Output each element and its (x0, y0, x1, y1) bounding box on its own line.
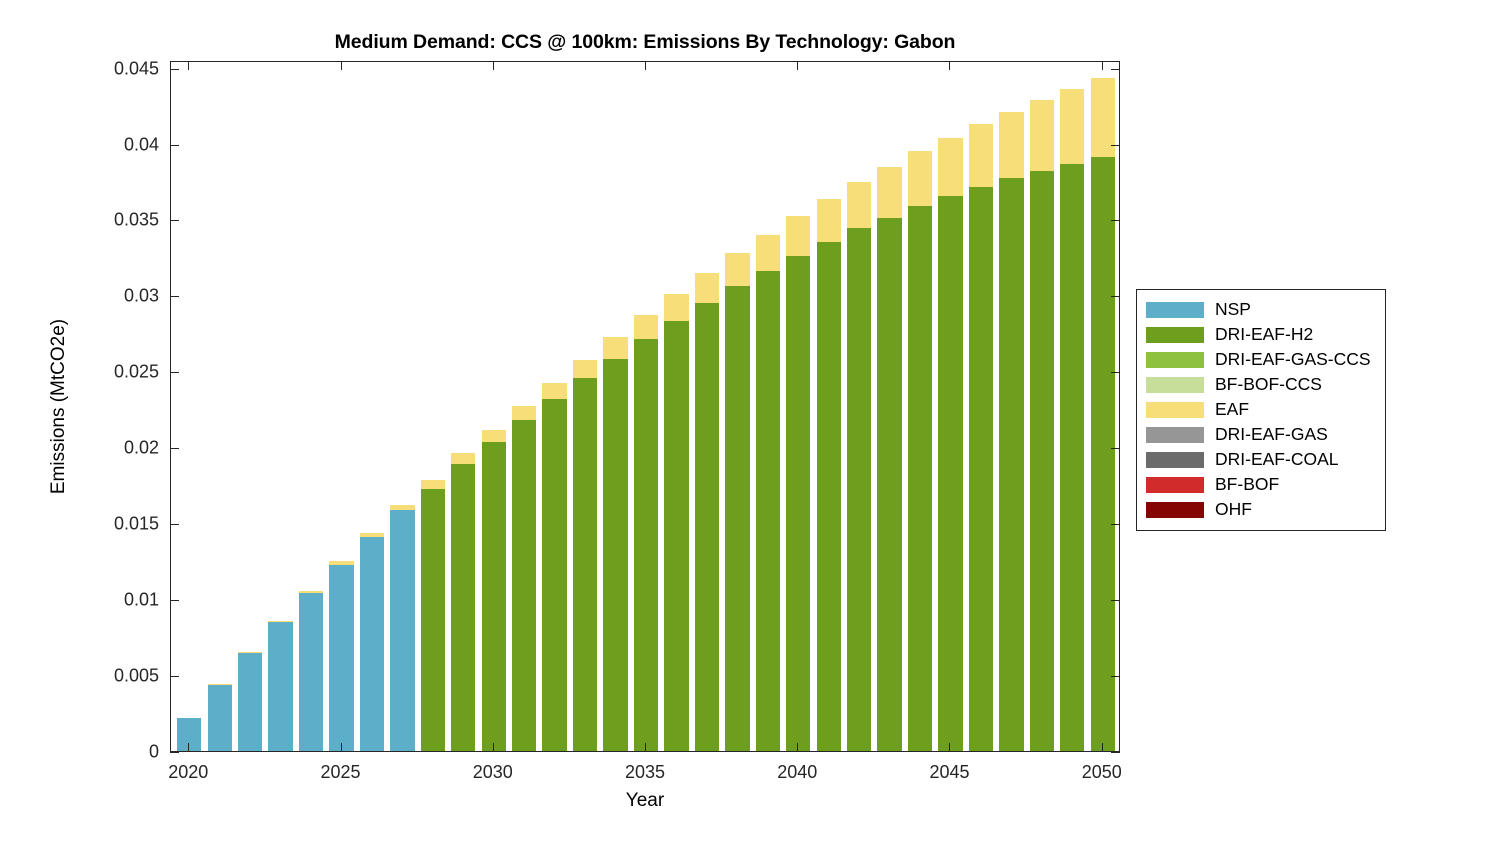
legend-label: DRI-EAF-GAS (1215, 424, 1328, 445)
bar-stack[interactable] (482, 430, 506, 751)
bar-stack[interactable] (664, 294, 688, 751)
y-axis-tick-right (1111, 220, 1120, 221)
legend-item-bf-bof[interactable]: BF-BOF (1146, 472, 1376, 497)
bar-segment-dri-eaf-h2[interactable] (1091, 157, 1115, 751)
legend-swatch-icon (1146, 452, 1204, 468)
legend-swatch-icon (1146, 302, 1204, 318)
bar-segment-dri-eaf-h2[interactable] (1060, 164, 1084, 751)
bar-stack[interactable] (817, 199, 841, 751)
bar-segment-dri-eaf-h2[interactable] (877, 218, 901, 751)
chart-legend: NSPDRI-EAF-H2DRI-EAF-GAS-CCSBF-BOF-CCSEA… (1136, 289, 1386, 531)
legend-swatch-icon (1146, 352, 1204, 368)
legend-label: BF-BOF (1215, 474, 1279, 495)
bar-stack[interactable] (360, 533, 384, 751)
legend-item-ohf[interactable]: OHF (1146, 497, 1376, 522)
bar-segment-eaf[interactable] (908, 151, 932, 206)
y-axis-tick (170, 145, 179, 146)
x-axis-tick (341, 743, 342, 752)
legend-swatch-icon (1146, 377, 1204, 393)
bar-segment-dri-eaf-h2[interactable] (482, 442, 506, 751)
x-axis-tick-label: 2050 (1082, 762, 1122, 783)
x-axis-label: Year (170, 790, 1120, 812)
x-axis-tick-label: 2030 (473, 762, 513, 783)
bar-stack[interactable] (1091, 78, 1115, 751)
legend-item-dri-eaf-h2[interactable]: DRI-EAF-H2 (1146, 322, 1376, 347)
bar-segment-nsp[interactable] (208, 685, 232, 751)
y-axis-tick-right (1111, 600, 1120, 601)
x-axis-tick-label: 2020 (168, 762, 208, 783)
y-axis-tick-label: 0.04 (124, 134, 159, 155)
bar-segment-nsp[interactable] (299, 593, 323, 751)
y-axis-tick-right (1111, 676, 1120, 677)
bar-segment-dri-eaf-h2[interactable] (512, 420, 536, 751)
bar-stack[interactable] (268, 621, 292, 751)
bar-segment-dri-eaf-h2[interactable] (451, 464, 475, 751)
bar-segment-nsp[interactable] (390, 510, 414, 751)
y-axis-tick-right (1111, 448, 1120, 449)
bar-segment-eaf[interactable] (756, 235, 780, 271)
bar-stack[interactable] (969, 124, 993, 751)
bar-segment-dri-eaf-h2[interactable] (1030, 171, 1054, 751)
y-axis-tick (170, 448, 179, 449)
bar-segment-eaf[interactable] (664, 294, 688, 321)
bar-stack[interactable] (512, 406, 536, 751)
y-axis-tick-label: 0.045 (114, 58, 159, 79)
bar-segment-eaf[interactable] (542, 383, 566, 400)
x-axis-tick (949, 743, 950, 752)
bar-segment-nsp[interactable] (329, 565, 353, 751)
y-axis-tick-label: 0.03 (124, 286, 159, 307)
x-axis-tick (493, 743, 494, 752)
bar-stack[interactable] (1060, 89, 1084, 751)
bar-segment-dri-eaf-h2[interactable] (634, 339, 658, 751)
legend-item-bf-bof-ccs[interactable]: BF-BOF-CCS (1146, 372, 1376, 397)
bar-segment-eaf[interactable] (725, 253, 749, 286)
bar-stack[interactable] (542, 383, 566, 751)
x-axis-tick-label: 2035 (625, 762, 665, 783)
legend-swatch-icon (1146, 402, 1204, 418)
legend-item-dri-eaf-gas[interactable]: DRI-EAF-GAS (1146, 422, 1376, 447)
y-axis-tick-label: 0.015 (114, 514, 159, 535)
legend-label: DRI-EAF-GAS-CCS (1215, 349, 1371, 370)
bar-stack[interactable] (847, 182, 871, 752)
x-axis-tick (797, 743, 798, 752)
legend-item-dri-eaf-coal[interactable]: DRI-EAF-COAL (1146, 447, 1376, 472)
bar-segment-dri-eaf-h2[interactable] (603, 359, 627, 751)
chart-figure: Medium Demand: CCS @ 100km: Emissions By… (0, 0, 1500, 844)
bar-segment-eaf[interactable] (512, 406, 536, 420)
bar-segment-nsp[interactable] (360, 537, 384, 751)
y-axis-tick-label: 0.02 (124, 438, 159, 459)
legend-label: NSP (1215, 299, 1251, 320)
bar-segment-eaf[interactable] (695, 273, 719, 303)
bar-stack[interactable] (756, 235, 780, 751)
y-axis-tick-label: 0 (149, 742, 159, 763)
y-axis-label: Emissions (MtCO2e) (48, 61, 70, 752)
y-axis-tick (170, 600, 179, 601)
bar-segment-eaf[interactable] (421, 480, 445, 489)
x-axis-tick-top (188, 61, 189, 70)
plot-area (171, 62, 1119, 751)
bar-segment-dri-eaf-h2[interactable] (817, 242, 841, 751)
bar-stack[interactable] (908, 151, 932, 751)
x-axis-tick (645, 743, 646, 752)
bar-stack[interactable] (208, 684, 232, 751)
x-axis-tick-top (493, 61, 494, 70)
x-axis-tick-top (949, 61, 950, 70)
bar-segment-eaf[interactable] (451, 453, 475, 463)
bar-segment-dri-eaf-h2[interactable] (999, 178, 1023, 751)
legend-label: DRI-EAF-COAL (1215, 449, 1338, 470)
bar-segment-dri-eaf-h2[interactable] (695, 303, 719, 751)
legend-item-eaf[interactable]: EAF (1146, 397, 1376, 422)
y-axis-tick-right (1111, 69, 1120, 70)
legend-label: OHF (1215, 499, 1252, 520)
x-axis-tick (188, 743, 189, 752)
bar-segment-eaf[interactable] (817, 199, 841, 242)
y-axis-tick (170, 676, 179, 677)
y-axis-tick (170, 69, 179, 70)
y-axis-tick (170, 752, 179, 753)
bar-stack[interactable] (938, 138, 962, 751)
bar-segment-dri-eaf-h2[interactable] (969, 187, 993, 751)
bar-stack[interactable] (695, 273, 719, 751)
x-axis-tick-label: 2045 (929, 762, 969, 783)
bar-stack[interactable] (390, 505, 414, 751)
bar-segment-eaf[interactable] (634, 315, 658, 339)
x-axis-tick-label: 2025 (320, 762, 360, 783)
bar-stack[interactable] (999, 112, 1023, 751)
bar-segment-dri-eaf-h2[interactable] (421, 489, 445, 751)
legend-swatch-icon (1146, 427, 1204, 443)
bar-stack[interactable] (1030, 100, 1054, 751)
x-axis-tick-top (341, 61, 342, 70)
bar-segment-eaf[interactable] (603, 337, 627, 359)
legend-swatch-icon (1146, 327, 1204, 343)
plot-frame (170, 61, 1120, 752)
bar-stack[interactable] (725, 253, 749, 751)
bar-stack[interactable] (573, 360, 597, 752)
bar-segment-dri-eaf-h2[interactable] (756, 271, 780, 751)
legend-swatch-icon (1146, 502, 1204, 518)
x-axis-tick (1102, 743, 1103, 752)
y-axis-tick (170, 220, 179, 221)
bar-segment-eaf[interactable] (573, 360, 597, 379)
legend-label: DRI-EAF-H2 (1215, 324, 1313, 345)
y-axis-tick-label: 0.025 (114, 362, 159, 383)
bar-stack[interactable] (603, 337, 627, 751)
bar-stack[interactable] (786, 216, 810, 751)
bar-segment-nsp[interactable] (268, 622, 292, 751)
y-axis-tick-label: 0.005 (114, 666, 159, 687)
x-axis-tick-top (797, 61, 798, 70)
bar-stack[interactable] (299, 591, 323, 751)
bar-segment-eaf[interactable] (938, 138, 962, 196)
bar-segment-dri-eaf-h2[interactable] (573, 378, 597, 751)
bar-segment-dri-eaf-h2[interactable] (664, 321, 688, 751)
legend-label: BF-BOF-CCS (1215, 374, 1322, 395)
y-axis-tick (170, 524, 179, 525)
bar-stack[interactable] (877, 167, 901, 751)
bar-segment-dri-eaf-h2[interactable] (938, 196, 962, 751)
bar-segment-eaf[interactable] (482, 430, 506, 442)
y-axis-tick-right (1111, 524, 1120, 525)
legend-item-dri-eaf-gas-ccs[interactable]: DRI-EAF-GAS-CCS (1146, 347, 1376, 372)
y-axis-tick (170, 296, 179, 297)
bar-segment-dri-eaf-h2[interactable] (542, 399, 566, 751)
bar-segment-eaf[interactable] (999, 112, 1023, 179)
x-axis-tick-top (1102, 61, 1103, 70)
bar-segment-eaf[interactable] (847, 182, 871, 229)
bar-segment-dri-eaf-h2[interactable] (725, 286, 749, 751)
y-axis-tick-label: 0.01 (124, 590, 159, 611)
legend-swatch-icon (1146, 477, 1204, 493)
y-axis-tick-label: 0.035 (114, 210, 159, 231)
legend-label: EAF (1215, 399, 1249, 420)
y-axis-tick-right (1111, 296, 1120, 297)
bar-segment-nsp[interactable] (238, 653, 262, 751)
bar-stack[interactable] (421, 480, 445, 751)
y-axis-tick-right (1111, 372, 1120, 373)
bar-segment-eaf[interactable] (786, 216, 810, 256)
bar-segment-dri-eaf-h2[interactable] (908, 206, 932, 751)
bar-segment-dri-eaf-h2[interactable] (847, 228, 871, 751)
bar-segment-eaf[interactable] (969, 124, 993, 187)
bar-segment-eaf[interactable] (1060, 89, 1084, 164)
x-axis-tick-top (645, 61, 646, 70)
y-axis-tick-right (1111, 145, 1120, 146)
bar-stack[interactable] (451, 453, 475, 751)
legend-item-nsp[interactable]: NSP (1146, 297, 1376, 322)
bar-segment-dri-eaf-h2[interactable] (786, 256, 810, 751)
y-axis-tick-right (1111, 752, 1120, 753)
chart-title: Medium Demand: CCS @ 100km: Emissions By… (170, 31, 1120, 54)
bar-segment-eaf[interactable] (877, 167, 901, 218)
bar-segment-eaf[interactable] (1030, 100, 1054, 171)
x-axis-tick-label: 2040 (777, 762, 817, 783)
bar-stack[interactable] (238, 652, 262, 751)
y-axis-tick (170, 372, 179, 373)
bar-stack[interactable] (329, 561, 353, 751)
bar-stack[interactable] (634, 315, 658, 751)
